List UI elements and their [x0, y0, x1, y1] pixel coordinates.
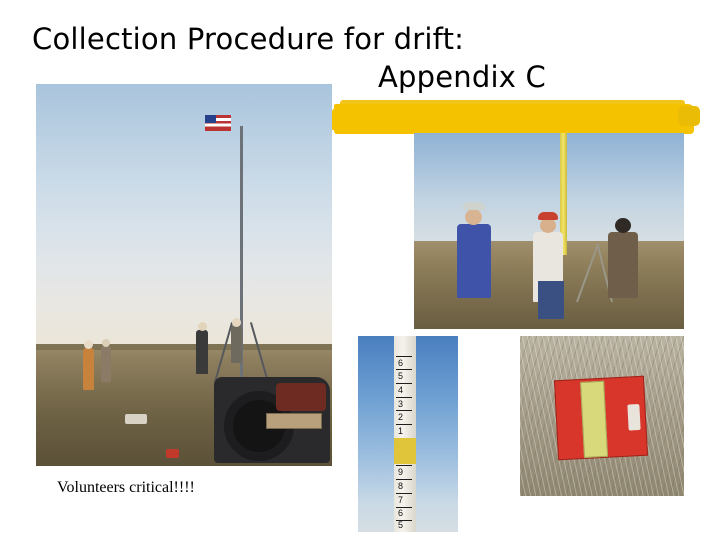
atv-vehicle [214, 377, 330, 463]
person-figure [231, 325, 242, 363]
atv-cargo-rack [266, 413, 322, 429]
red-equipment-marker [166, 449, 179, 458]
person-figure [101, 346, 111, 382]
volunteer-camo-jacket [608, 232, 638, 298]
slide-caption: Volunteers critical!!!! [57, 479, 195, 497]
stick-number: 4 [398, 386, 403, 395]
stick-number: 6 [398, 509, 403, 518]
measuring-stick-photo: 6 5 4 3 2 1 9 8 7 6 5 [358, 336, 458, 532]
stick-number: 6 [398, 359, 403, 368]
mast-with-flag-photo [36, 84, 332, 466]
sky-region [36, 84, 332, 348]
stick-tick [396, 479, 412, 480]
yellow-sampling-card [580, 380, 608, 458]
equipment-case [125, 414, 147, 424]
red-collector-box [554, 375, 648, 460]
stick-tick [396, 424, 412, 425]
stick-number: 7 [398, 496, 403, 505]
stick-tick [396, 383, 412, 384]
stick-number: 9 [398, 468, 403, 477]
stick-tick [396, 397, 412, 398]
highlighter-stroke [334, 104, 694, 134]
red-collector-box-photo [520, 336, 684, 496]
slide-title-line-1: Collection Procedure for drift: [32, 22, 464, 56]
stick-number: 5 [398, 372, 403, 381]
volunteer-white-shirt-legs [538, 281, 564, 319]
team-at-pole-photo [414, 133, 684, 329]
stick-tick [396, 369, 412, 370]
stick-tick [396, 410, 412, 411]
person-figure [196, 330, 208, 374]
stick-number: 1 [398, 427, 403, 436]
stick-number: 2 [398, 413, 403, 422]
stick-tick [396, 356, 412, 357]
box-latch [627, 403, 640, 430]
stick-tick [396, 465, 412, 466]
slide-title-line-2: Appendix C [378, 60, 546, 94]
stick-yellow-band [394, 438, 416, 464]
stick-tick [396, 493, 412, 494]
stick-number: 8 [398, 482, 403, 491]
volunteer-blue-shirt [457, 224, 491, 298]
stick-number: 3 [398, 400, 403, 409]
stick-number: 5 [398, 521, 403, 530]
american-flag-icon [205, 115, 231, 131]
person-figure [83, 348, 94, 390]
stick-tick [396, 507, 412, 508]
